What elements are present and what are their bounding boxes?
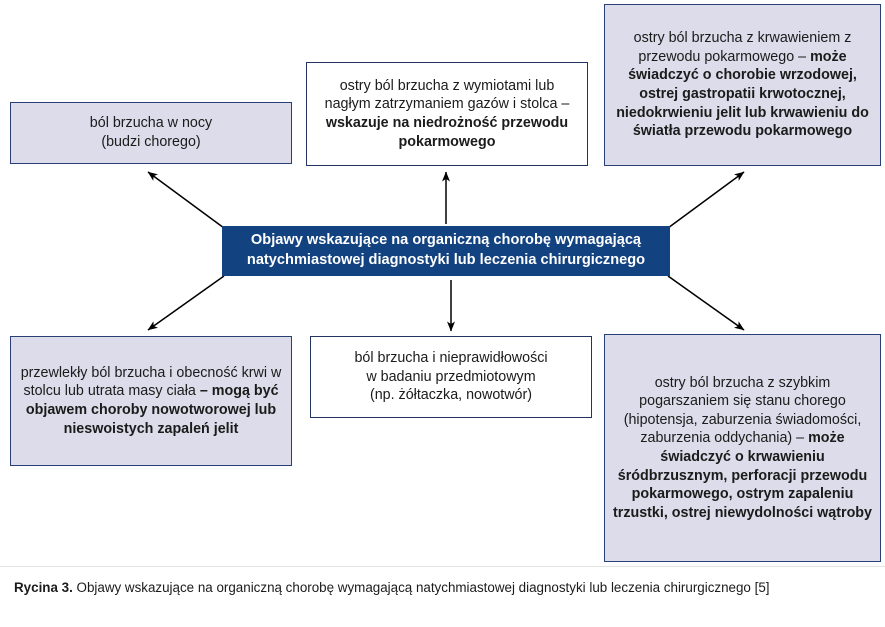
figure-caption-label: Rycina 3. [14, 580, 73, 595]
node-physical-abnormalities-text: ból brzucha i nieprawidłowościw badaniu … [319, 349, 583, 405]
node-vomiting-text: ostry ból brzucha z wymiotami lub nagłym… [315, 77, 579, 151]
arrow-center-to-deterioration [668, 276, 744, 330]
node-chronic-pain: przewlekły ból brzucha i obecność krwi w… [10, 336, 292, 466]
arrow-center-to-bleeding [668, 172, 744, 228]
diagram-canvas: ból brzucha w nocy(budzi chorego) ostry … [0, 0, 885, 566]
node-central-statement: Objawy wskazujące na organiczną chorobę … [222, 226, 670, 276]
node-rapid-deterioration-text: ostry ból brzucha z szybkim pogarszaniem… [613, 374, 872, 523]
node-physical-abnormalities: ból brzucha i nieprawidłowościw badaniu … [310, 336, 592, 418]
node-rapid-deterioration: ostry ból brzucha z szybkim pogarszaniem… [604, 334, 881, 562]
node-central-statement-text: Objawy wskazujące na organiczną chorobę … [230, 231, 662, 270]
node-bleeding-text: ostry ból brzucha z krwawieniem z przewo… [613, 29, 872, 140]
node-chronic-pain-text: przewlekły ból brzucha i obecność krwi w… [19, 364, 283, 438]
node-night-pain-text: ból brzucha w nocy(budzi chorego) [19, 114, 283, 151]
figure-caption: Rycina 3. Objawy wskazujące na organiczn… [0, 566, 885, 627]
node-vomiting: ostry ból brzucha z wymiotami lub nagłym… [306, 62, 588, 166]
node-bleeding: ostry ból brzucha z krwawieniem z przewo… [604, 4, 881, 166]
arrow-center-to-night [148, 172, 224, 228]
figure-caption-text: Objawy wskazujące na organiczną chorobę … [73, 580, 770, 595]
node-night-pain: ból brzucha w nocy(budzi chorego) [10, 102, 292, 164]
arrow-center-to-chronic [148, 276, 224, 330]
figure-container: ból brzucha w nocy(budzi chorego) ostry … [0, 0, 885, 627]
